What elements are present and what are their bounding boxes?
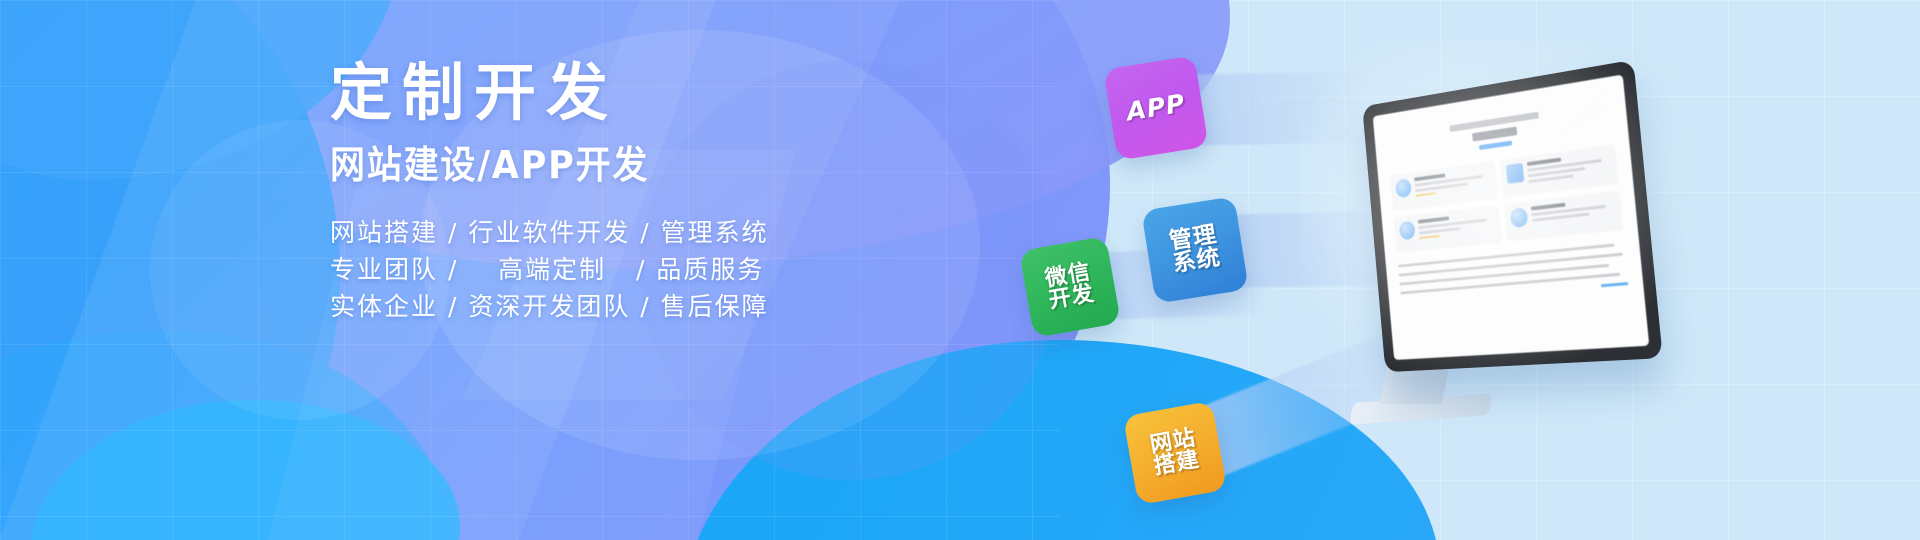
mockup-accent-rule	[1479, 141, 1512, 150]
mockup-card-icon	[1505, 163, 1523, 184]
banner-subheadline: 网站建设/APP开发	[330, 146, 900, 184]
promo-banner: 定制开发 网站建设/APP开发 网站搭建 / 行业软件开发 / 管理系统 专业团…	[0, 0, 1920, 540]
service-tile-website-building: 网站搭建	[1123, 401, 1227, 505]
tile-trail-app	[1186, 71, 1379, 145]
service-tile-wechat-development: 微信开发	[1019, 236, 1121, 338]
mockup-card	[1390, 161, 1497, 211]
service-tile-app-label: APP	[1125, 91, 1187, 125]
monitor-screen	[1373, 74, 1650, 360]
mockup-card	[1500, 144, 1619, 197]
mockup-card-grid	[1390, 144, 1623, 253]
feature-line-2: 专业团队 / 高端定制 / 品质服务	[330, 251, 950, 288]
service-tile-wechat-development-label: 微信开发	[1043, 261, 1096, 313]
mockup-card-underline	[1419, 235, 1439, 239]
feature-line-1: 网站搭建 / 行业软件开发 / 管理系统	[330, 214, 950, 251]
mockup-card-text	[1526, 151, 1612, 189]
mockup-card-underline	[1416, 192, 1436, 196]
service-tile-app: APP	[1103, 55, 1208, 160]
feature-line-3: 实体企业 / 资深开发团队 / 售后保障	[330, 288, 950, 325]
mockup-card-text	[1418, 211, 1496, 245]
banner-feature-list: 网站搭建 / 行业软件开发 / 管理系统 专业团队 / 高端定制 / 品质服务 …	[330, 214, 950, 325]
mockup-card	[1504, 190, 1623, 241]
mockup-card-icon	[1399, 221, 1416, 241]
mockup-paragraph-accent	[1601, 282, 1629, 287]
mockup-subtitle-bar	[1472, 127, 1517, 142]
service-tile-management-system: 管理系统	[1141, 196, 1249, 304]
mockup-card-icon	[1509, 207, 1528, 228]
service-tile-management-system-label: 管理系统	[1168, 223, 1223, 277]
banner-headline: 定制开发	[330, 62, 950, 124]
mockup-card	[1394, 205, 1502, 253]
mockup-card-text	[1414, 167, 1492, 203]
mockup-paragraph	[1398, 243, 1628, 304]
mockup-card-text	[1530, 197, 1617, 233]
mockup-paragraph-line	[1400, 273, 1620, 295]
monitor-device	[1362, 60, 1663, 372]
service-tile-website-building-label: 网站搭建	[1148, 427, 1201, 479]
banner-copy: 定制开发 网站建设/APP开发 网站搭建 / 行业软件开发 / 管理系统 专业团…	[330, 62, 950, 325]
mockup-card-icon	[1395, 178, 1412, 198]
monitor-bezel	[1362, 60, 1663, 372]
